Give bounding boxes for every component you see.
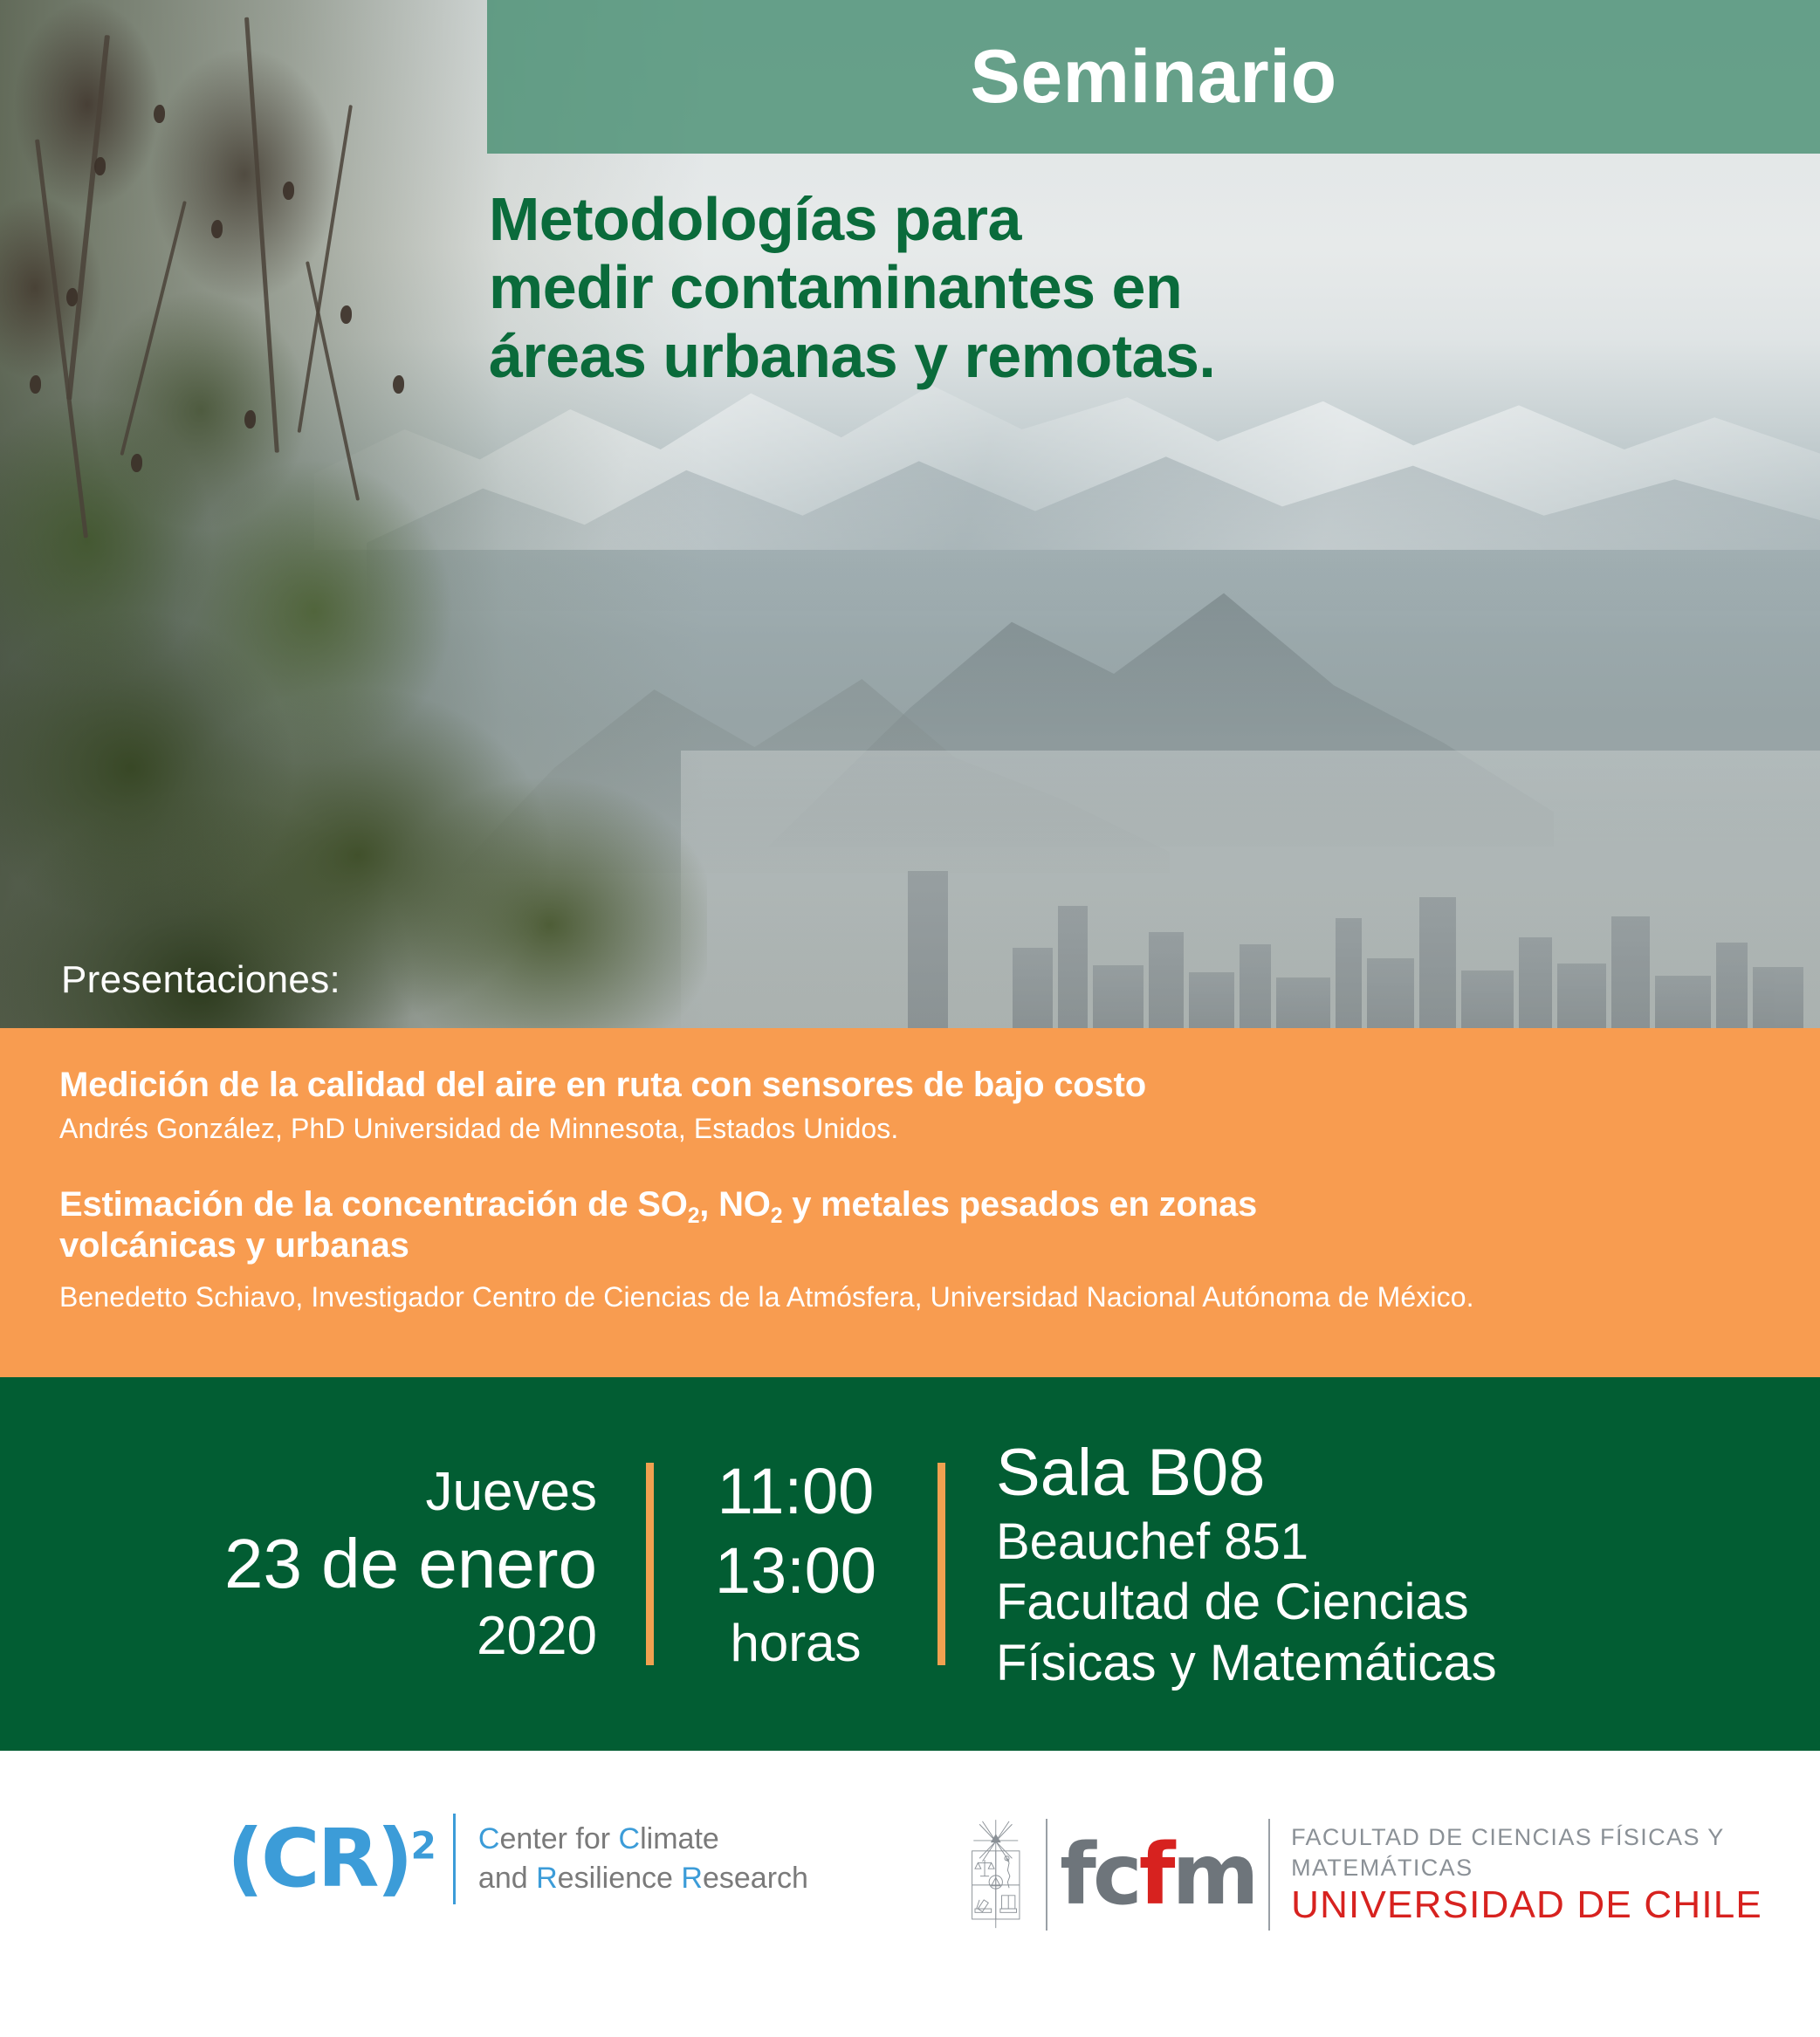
- event-time: 11:00 13:00 horas: [654, 1452, 937, 1676]
- title-line-3: áreas urbanas y remotas.: [489, 322, 1763, 390]
- title-line-2: medir contaminantes en: [489, 253, 1763, 321]
- cr2-logo: (CR)2 Center for Climate and Resilience …: [227, 1814, 808, 1904]
- talk-title: Medición de la calidad del aire en ruta …: [59, 1065, 1764, 1106]
- fcfm-wordmark-icon: fcfm: [1060, 1833, 1255, 1917]
- seminario-label: Seminario: [970, 39, 1336, 114]
- title-line-1: Metodologías para: [489, 185, 1763, 253]
- divider-left: [646, 1463, 654, 1665]
- talk-title: Estimación de la concentración de SO2, N…: [59, 1184, 1764, 1266]
- event-weekday: Jueves: [0, 1460, 597, 1524]
- event-room: Sala B08: [996, 1435, 1820, 1512]
- talk-item: Medición de la calidad del aire en ruta …: [59, 1065, 1764, 1146]
- presentations-band: Medición de la calidad del aire en ruta …: [0, 1028, 1820, 1377]
- talk-title-part: , NO: [699, 1185, 770, 1224]
- fcfm-divider-right: [1268, 1819, 1271, 1931]
- talk-title-part: volcánicas y urbanas: [59, 1226, 409, 1265]
- cr2-cap-c2: C: [619, 1822, 641, 1855]
- event-time-unit: horas: [666, 1610, 925, 1676]
- event-date: Jueves 23 de enero 2020: [0, 1460, 646, 1668]
- divider-right: [937, 1463, 945, 1665]
- cr2-text-1: enter for: [499, 1822, 618, 1855]
- city-skyline: [1004, 768, 1820, 1028]
- event-time-start: 11:00: [666, 1452, 925, 1531]
- event-address: Beauchef 851: [996, 1512, 1820, 1573]
- event-day: 23 de enero: [0, 1524, 597, 1604]
- talk-author: Benedetto Schiavo, Investigador Centro d…: [59, 1279, 1764, 1314]
- fcfm-logo: fcfm FACULTAD DE CIENCIAS FÍSICAS Y MATE…: [960, 1808, 1820, 1941]
- talk-title-part: Estimación de la concentración de SO: [59, 1185, 688, 1224]
- talk-author: Andrés González, PhD Universidad de Minn…: [59, 1111, 1764, 1146]
- fcfm-divider-left: [1046, 1819, 1048, 1931]
- cr2-cap-r2: R: [681, 1862, 703, 1895]
- seminario-banner: Seminario: [487, 0, 1820, 154]
- cr2-text-4: esilience: [558, 1862, 682, 1895]
- cr2-mark-exponent: 2: [410, 1824, 433, 1867]
- presentations-label: Presentaciones:: [61, 958, 340, 1002]
- event-info-grid: Jueves 23 de enero 2020 11:00 13:00 hora…: [0, 1377, 1820, 1751]
- event-year: 2020: [0, 1604, 597, 1668]
- subscript-no2: 2: [771, 1204, 783, 1228]
- cr2-divider: [453, 1814, 456, 1904]
- talk-title-part: y metales pesados en zonas: [782, 1185, 1257, 1224]
- event-time-end: 13:00: [666, 1532, 925, 1610]
- fcfm-letter-f2: f: [1139, 1826, 1172, 1924]
- cr2-text-2: limate: [640, 1822, 719, 1855]
- fcfm-tagline: FACULTAD DE CIENCIAS FÍSICAS Y MATEMÁTIC…: [1291, 1822, 1820, 1928]
- cr2-mark-main: (CR): [227, 1812, 410, 1905]
- foreground-tree: [0, 0, 707, 1028]
- fcfm-faculty-name: FACULTAD DE CIENCIAS FÍSICAS Y MATEMÁTIC…: [1291, 1822, 1820, 1883]
- fcfm-university-name: UNIVERSIDAD DE CHILE: [1291, 1883, 1820, 1928]
- cr2-cap-c1: C: [478, 1822, 500, 1855]
- event-faculty-1: Facultad de Ciencias: [996, 1572, 1820, 1633]
- cr2-wordmark-icon: (CR)2: [227, 1819, 434, 1899]
- cr2-tagline: Center for Climate and Resilience Resear…: [478, 1820, 808, 1898]
- background-photo: [0, 0, 1820, 1028]
- event-faculty-2: Físicas y Matemáticas: [996, 1633, 1820, 1694]
- talk-item: Estimación de la concentración de SO2, N…: [59, 1184, 1764, 1313]
- cr2-tagline-line-2: and Resilience Research: [478, 1859, 808, 1898]
- cr2-cap-r1: R: [536, 1862, 558, 1895]
- seminar-poster: Seminario Metodologías para medir contam…: [0, 0, 1820, 2037]
- university-crest-icon: [960, 1808, 1032, 1941]
- cr2-text-3: and: [478, 1862, 536, 1895]
- fcfm-letter-f1: f: [1060, 1826, 1093, 1924]
- event-location: Sala B08 Beauchef 851 Facultad de Cienci…: [945, 1435, 1820, 1694]
- cr2-tagline-line-1: Center for Climate: [478, 1820, 808, 1859]
- cr2-text-5: esearch: [703, 1862, 808, 1895]
- fcfm-letter-m: m: [1172, 1826, 1256, 1924]
- subscript-so2: 2: [688, 1204, 700, 1228]
- page-title: Metodologías para medir contaminantes en…: [489, 185, 1763, 390]
- fcfm-letter-c: c: [1093, 1826, 1139, 1924]
- event-info-band: Jueves 23 de enero 2020 11:00 13:00 hora…: [0, 1377, 1820, 1751]
